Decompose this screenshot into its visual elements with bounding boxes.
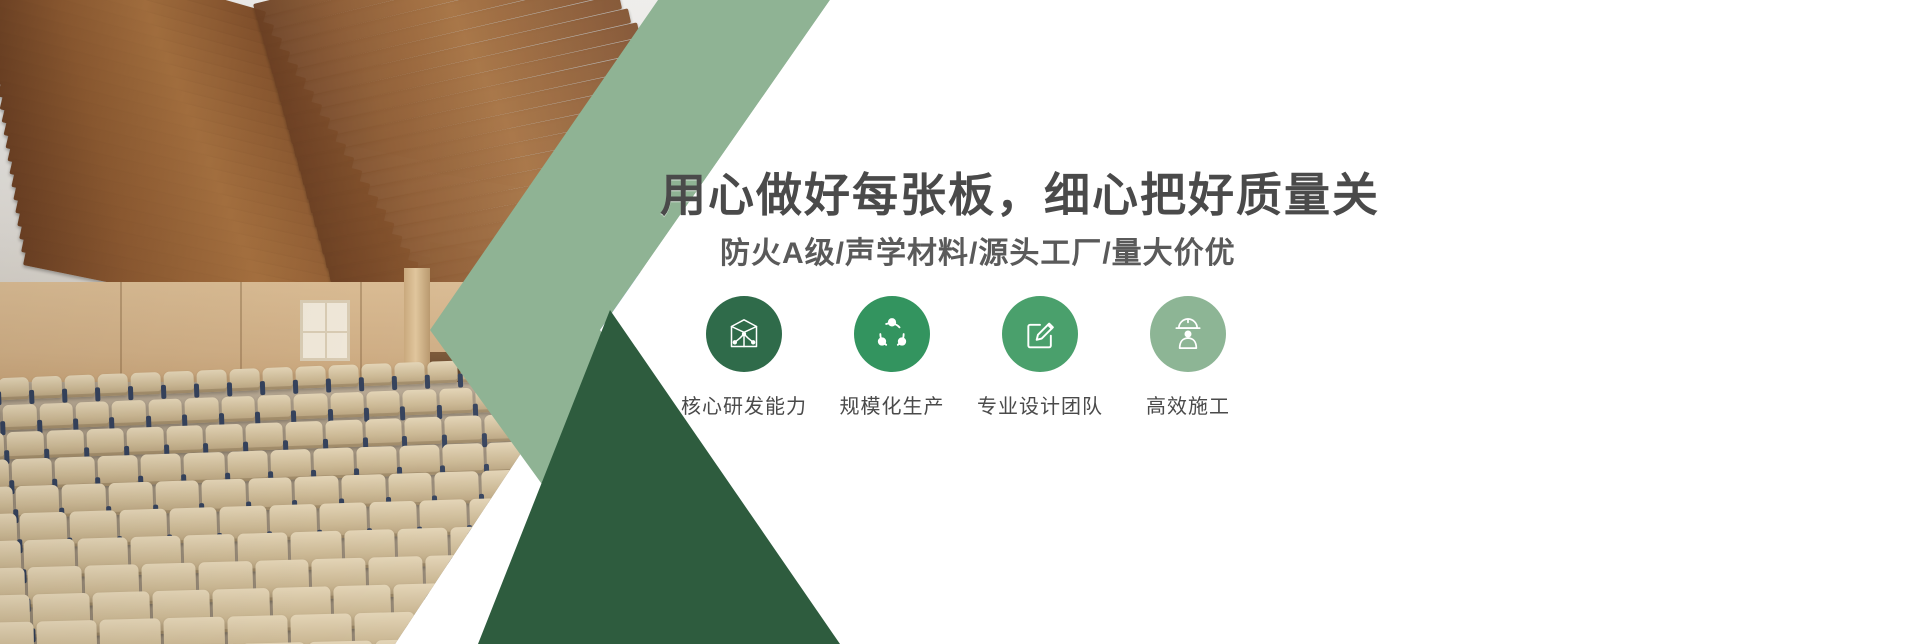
cube-chart-icon — [724, 314, 764, 354]
feature-icon-circle — [706, 296, 782, 372]
banner-subheadline: 防火A级/声学材料/源头工厂/量大价优 — [720, 228, 1920, 272]
feature-label: 高效施工 — [1146, 390, 1230, 419]
feature-label: 核心研发能力 — [681, 390, 807, 419]
feature-item[interactable]: 高效施工 — [1114, 296, 1262, 419]
feature-icon-circle — [1002, 296, 1078, 372]
hero-banner: 用心做好每张板，细心把好质量关 防火A级/声学材料/源头工厂/量大价优 — [0, 0, 1920, 644]
feature-item[interactable]: 专业设计团队 — [966, 296, 1114, 419]
feature-label: 规模化生产 — [840, 390, 945, 419]
banner-content: 用心做好每张板，细心把好质量关 防火A级/声学材料/源头工厂/量大价优 — [660, 0, 1920, 644]
worker-helmet-icon — [1168, 314, 1208, 354]
feature-list: 核心研发能力 规模化生产 — [670, 296, 1262, 419]
feature-item[interactable]: 核心研发能力 — [670, 296, 818, 419]
feature-label: 专业设计团队 — [977, 390, 1103, 419]
network-nodes-icon — [872, 314, 912, 354]
banner-headline: 用心做好每张板，细心把好质量关 — [660, 159, 1920, 225]
feature-icon-circle — [1150, 296, 1226, 372]
feature-item[interactable]: 规模化生产 — [818, 296, 966, 419]
pencil-square-icon — [1020, 314, 1060, 354]
feature-icon-circle — [854, 296, 930, 372]
